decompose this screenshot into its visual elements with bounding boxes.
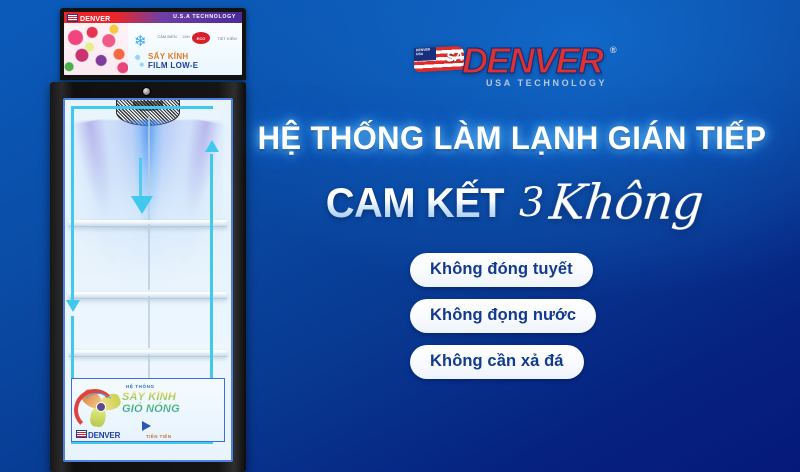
flag-badge-text: SA bbox=[446, 49, 463, 65]
banner-artwork: DENVER U.S.A TECHNOLOGY ❄ CẢM BIẾN 24H T… bbox=[64, 12, 242, 75]
badge-brand-sub: USA TECHNOLOGY bbox=[86, 441, 120, 442]
water-drops-icon bbox=[132, 52, 146, 70]
shelf-divider bbox=[148, 224, 150, 290]
fridge-cabinet: HỆ THỐNG SẤY KÍNHGIÓ NÓNG TIÊN TIẾN DENV… bbox=[50, 82, 246, 472]
arrow-down-icon bbox=[66, 300, 80, 312]
denver-logo: DENVER USA SA DENVER ® USA TECHNOLOGY bbox=[414, 41, 644, 89]
flag-canton-text: DENVER USA bbox=[416, 48, 436, 57]
registered-mark: ® bbox=[610, 45, 617, 55]
arrow-right-icon bbox=[142, 421, 151, 431]
banner-cell-2: TIẾT KIỆM bbox=[214, 36, 240, 41]
flag-icon bbox=[76, 430, 87, 438]
feature-line-2: FILM LOW-E bbox=[148, 61, 198, 70]
banner-cell-0: CẢM BIẾN bbox=[156, 34, 178, 39]
page-title: HỆ THỐNG LÀM LẠNH GIÁN TIẾP bbox=[240, 118, 783, 158]
brand-wordmark: DENVER bbox=[462, 41, 602, 81]
shelf-divider bbox=[148, 296, 150, 348]
promise-number: 3 bbox=[519, 180, 544, 226]
brand-tagline: USA TECHNOLOGY bbox=[486, 78, 607, 88]
promise-script-text: Không bbox=[548, 177, 706, 229]
route-top bbox=[71, 106, 213, 115]
banner-feature-text: SẤY KÍNH FILM LOW-E bbox=[148, 52, 198, 70]
badge-main-label: SẤY KÍNHGIÓ NÓNG bbox=[122, 391, 180, 415]
arrow-up-icon bbox=[205, 140, 219, 152]
route-center bbox=[139, 158, 145, 198]
badge-brand-label: DENVER bbox=[76, 430, 120, 440]
fridge-glass-door: HỆ THỐNG SẤY KÍNHGIÓ NÓNG TIÊN TIẾN DENV… bbox=[63, 98, 233, 462]
arrow-down-icon bbox=[131, 196, 153, 214]
badge-small-label: HỆ THỐNG bbox=[126, 384, 155, 389]
promise-pill-2[interactable]: Không cần xả đá bbox=[410, 345, 584, 379]
usa-flag-icon: DENVER USA SA bbox=[414, 46, 464, 73]
fruit-graphic bbox=[64, 23, 128, 75]
promise-heading: CAM KẾT 3 Không bbox=[232, 172, 792, 234]
promise-pill-1[interactable]: Không đọng nước bbox=[410, 299, 596, 333]
eco-seal-badge: ECO bbox=[192, 32, 210, 44]
feature-line-1: SẤY KÍNH bbox=[148, 52, 188, 61]
fridge-top-banner: DENVER U.S.A TECHNOLOGY ❄ CẢM BIẾN 24H T… bbox=[60, 8, 246, 80]
flag-canton: DENVER USA bbox=[414, 47, 436, 61]
promo-banner: DENVER U.S.A TECHNOLOGY ❄ CẢM BIẾN 24H T… bbox=[0, 0, 800, 472]
banner-header-strip: DENVER U.S.A TECHNOLOGY bbox=[64, 12, 242, 23]
lock-icon bbox=[142, 87, 151, 96]
badge-arrow-label: TIÊN TIẾN bbox=[146, 434, 171, 439]
fridge-bottom-badge: HỆ THỐNG SẤY KÍNHGIÓ NÓNG TIÊN TIẾN DENV… bbox=[71, 378, 225, 442]
promise-list: Không đóng tuyết Không đọng nước Không c… bbox=[410, 253, 710, 379]
refrigerator-illustration: DENVER U.S.A TECHNOLOGY ❄ CẢM BIẾN 24H T… bbox=[50, 8, 246, 472]
banner-cell-1: 24H bbox=[180, 34, 192, 39]
promise-bold-text: CAM KẾT bbox=[326, 179, 504, 227]
fan-hub bbox=[96, 402, 106, 412]
banner-tech-label: U.S.A TECHNOLOGY bbox=[173, 14, 236, 20]
snowflake-icon: ❄ bbox=[134, 34, 147, 49]
flag-icon bbox=[67, 14, 78, 22]
promise-pill-0[interactable]: Không đóng tuyết bbox=[410, 253, 593, 287]
fan-blades-icon bbox=[76, 385, 124, 427]
banner-brand-label: DENVER bbox=[67, 14, 110, 24]
route-left-down bbox=[71, 106, 77, 306]
